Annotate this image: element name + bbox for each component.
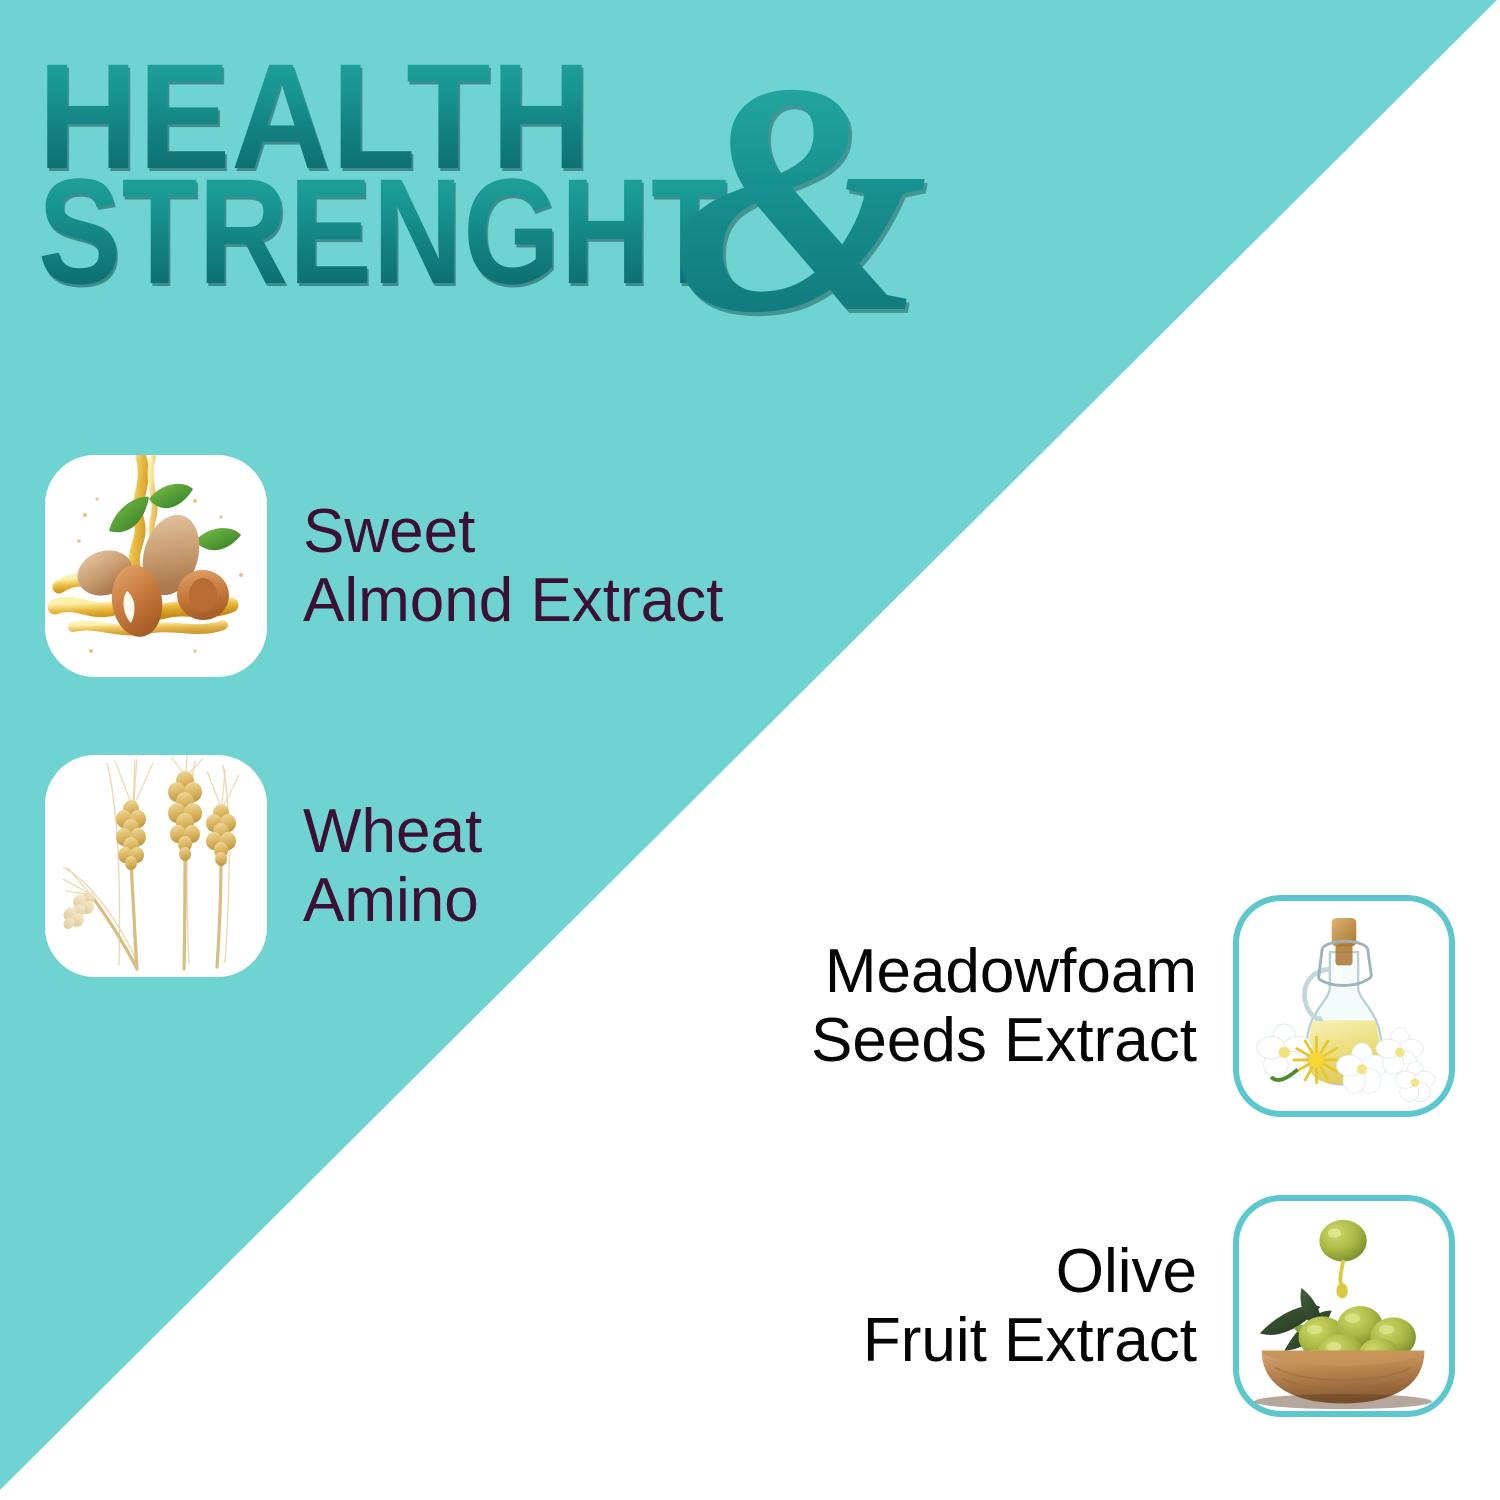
- olive-bowl-icon: [1239, 1201, 1449, 1411]
- wheat-stalks-icon: [45, 755, 267, 977]
- infographic-canvas: HEALTH STRENGHT &: [0, 0, 1500, 1500]
- ingredient-label-olive-fruit-extract: Olive Fruit Extract: [863, 1237, 1197, 1376]
- ingredient-row-olive-fruit-extract: Olive Fruit Extract: [863, 1195, 1455, 1417]
- tile-sweet-almond-extract: [45, 455, 267, 677]
- ampersand-glyph: &: [672, 34, 929, 364]
- tile-olive-fruit-extract: [1233, 1195, 1455, 1417]
- tile-wheat-amino: [45, 755, 267, 977]
- ingredient-label-wheat-amino: Wheat Amino: [303, 797, 482, 936]
- ingredient-label-meadowfoam-seeds-extract: Meadowfoam Seeds Extract: [811, 937, 1197, 1076]
- almond-oil-icon: [45, 455, 267, 677]
- oil-bottle-flowers-icon: [1239, 901, 1449, 1111]
- tile-meadowfoam-seeds-extract: [1233, 895, 1455, 1117]
- ingredient-row-sweet-almond-extract: Sweet Almond Extract: [45, 455, 723, 677]
- ingredient-row-wheat-amino: Wheat Amino: [45, 755, 482, 977]
- ingredient-label-sweet-almond-extract: Sweet Almond Extract: [303, 497, 723, 636]
- ingredient-row-meadowfoam-seeds-extract: Meadowfoam Seeds Extract: [811, 895, 1455, 1117]
